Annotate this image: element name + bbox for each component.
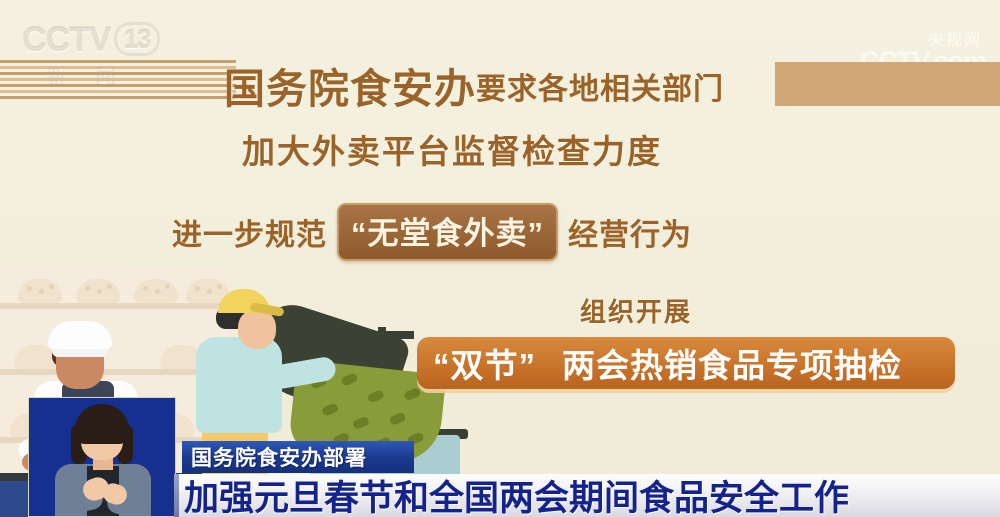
line4-banner-rest: 两会热销食品专项抽检: [562, 339, 902, 387]
watermark-cn: 央视网: [860, 26, 982, 50]
sign-language-interpreter-inset: [28, 397, 176, 517]
bread-icon: [134, 279, 178, 303]
channel-number: 13: [114, 22, 161, 56]
headline-block: 国务院食安办要求各地相关部门 加大外卖平台监督检查力度: [224, 55, 824, 173]
lower-third-edge: [174, 474, 179, 517]
lower-third-headline-text: 加强元旦春节和全国两会期间食品安全工作: [184, 470, 849, 517]
lower-third-kicker: 国务院食安办部署: [182, 441, 414, 473]
lower-third-kicker-text: 国务院食安办部署: [191, 442, 367, 472]
broadcast-screen: CCTV13 新 闻 央视网 CCTV.com 国务院食安办要求各地相关部门 加…: [0, 0, 1000, 517]
line3-highlight-box: “无堂食外卖”: [337, 203, 558, 261]
line4-banner-quoted: “双节”: [433, 339, 536, 387]
headline-emphasis: 国务院食安办: [224, 66, 476, 112]
worker-head: [238, 309, 276, 349]
decorative-stripes: [0, 60, 236, 104]
lower-third-headline-bar: 加强元旦春节和全国两会期间食品安全工作: [174, 474, 1000, 517]
subheadline-line-3: 进一步规范 “无堂食外卖” 经营行为: [172, 203, 692, 261]
line4-sublabel: 组织开展: [580, 292, 692, 329]
bread-icon: [18, 279, 62, 303]
cctv-wordmark: CCTV: [22, 21, 111, 59]
line3-suffix: 经营行为: [568, 210, 692, 254]
bread-icon: [76, 279, 120, 303]
interpreter-hair: [75, 404, 129, 444]
cctv-logo-text: CCTV13: [22, 22, 202, 58]
baker-hat: [48, 321, 112, 349]
line3-prefix: 进一步规范: [172, 210, 327, 254]
headline-line-2: 加大外卖平台监督检查力度: [242, 125, 824, 173]
headline-line-1: 国务院食安办要求各地相关部门: [224, 55, 824, 115]
line4-banner: “双节” 两会热销食品专项抽检: [417, 337, 955, 389]
headline-rest: 要求各地相关部门: [476, 73, 724, 106]
